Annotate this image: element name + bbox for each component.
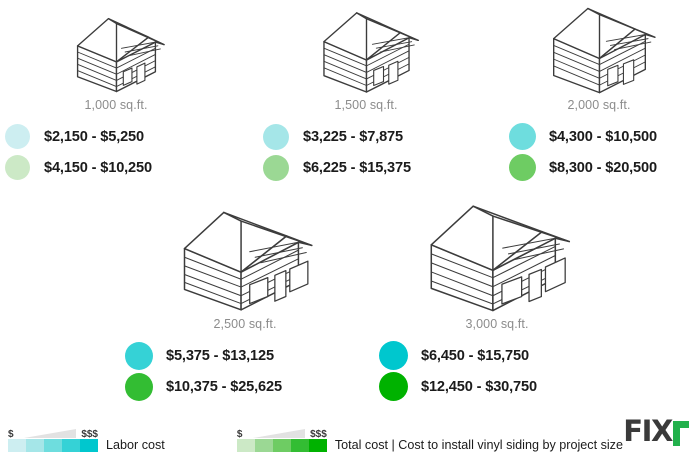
house-illustration-3000 [372,198,622,313]
labor-cost-swatch-3000 [379,341,408,370]
labor-cost-gradient-bar [8,439,98,452]
size-label-1500: 1,500 sq.ft. [250,98,482,112]
house-illustration-1000 [0,8,232,94]
labor-cost-swatch-2000 [509,123,536,150]
total-cost-value-3000: $12,450 - $30,750 [421,379,537,395]
labor-cost-value-2000: $4,300 - $10,500 [549,129,657,145]
size-label-1000: 1,000 sq.ft. [0,98,232,112]
total-cost-value-1500: $6,225 - $15,375 [303,160,411,176]
labor-gradient-step-5 [80,439,98,452]
total-cost-row-2500: $10,375 - $25,625 [120,371,370,402]
price-group-1000: $2,150 - $5,250 $4,150 - $10,250 [0,121,232,183]
total-gradient-step-1 [237,439,255,452]
price-group-2000: $4,300 - $10,500 $8,300 - $20,500 [498,121,700,183]
total-cost-row-3000: $12,450 - $30,750 [372,371,622,402]
labor-cost-value-1000: $2,150 - $5,250 [44,129,144,145]
price-group-1500: $3,225 - $7,875 $6,225 - $15,375 [250,121,482,183]
labor-cost-swatch-2500 [125,342,153,370]
legend-labor-cost: $ $$$ Labor cost [8,426,165,452]
labor-cost-value-3000: $6,450 - $15,750 [421,348,529,364]
house-illustration-1500 [250,5,482,94]
total-cost-row-1500: $6,225 - $15,375 [250,152,482,183]
total-cost-swatch-2500 [125,373,153,401]
labor-gradient-step-2 [26,439,44,452]
total-gradient-step-3 [273,439,291,452]
total-scale-low-marker: $ [237,430,243,440]
labor-cost-swatch-1500 [263,124,289,150]
total-cost-swatch-3000 [379,372,408,401]
total-cost-scale: $ $$$ [237,426,327,452]
total-scale-markers: $ $$$ [237,426,327,439]
price-group-3000: $6,450 - $15,750 $12,450 - $30,750 [372,340,622,402]
legend-total-cost: $ $$$ Total cost | Cost to install vinyl… [237,426,623,452]
total-cost-row-2000: $8,300 - $20,500 [498,152,700,183]
total-cost-value-2500: $10,375 - $25,625 [166,379,282,395]
labor-gradient-step-1 [8,439,26,452]
labor-cost-value-2500: $5,375 - $13,125 [166,348,274,364]
fixr-bracket-icon [673,421,689,446]
labor-cost-legend-label: Labor cost [106,438,165,452]
size-label-2500: 2,500 sq.ft. [120,317,370,331]
size-card-3000: 3,000 sq.ft. $6,450 - $15,750 $12,450 - … [372,198,622,402]
labor-cost-row-1000: $2,150 - $5,250 [0,121,232,152]
labor-cost-row-1500: $3,225 - $7,875 [250,121,482,152]
fixr-logo-wordmark: FIX [623,417,672,446]
size-label-2000: 2,000 sq.ft. [498,98,700,112]
total-gradient-step-5 [309,439,327,452]
total-cost-gradient-bar [237,439,327,452]
infographic-canvas: 1,000 sq.ft. $2,150 - $5,250 $4,150 - $1… [0,0,700,456]
house-icon [64,10,169,94]
size-card-2000: 2,000 sq.ft. $4,300 - $10,500 $8,300 - $… [498,2,700,183]
total-cost-swatch-1500 [263,155,289,181]
labor-cost-row-2000: $4,300 - $10,500 [498,121,700,152]
labor-gradient-step-4 [62,439,80,452]
size-card-1000: 1,000 sq.ft. $2,150 - $5,250 $4,150 - $1… [0,8,232,183]
labor-cost-row-2500: $5,375 - $13,125 [120,340,370,371]
house-icon [416,198,578,313]
labor-gradient-step-3 [44,439,62,452]
labor-scale-markers: $ $$$ [8,426,98,439]
total-scale-high-marker: $$$ [310,430,327,440]
size-label-3000: 3,000 sq.ft. [372,317,622,331]
labor-scale-high-marker: $$$ [81,430,98,440]
labor-scale-wedge-icon [24,429,76,438]
total-cost-value-2000: $8,300 - $20,500 [549,160,657,176]
price-group-2500: $5,375 - $13,125 $10,375 - $25,625 [120,340,370,402]
labor-cost-swatch-1000 [5,124,30,149]
labor-cost-scale: $ $$$ [8,426,98,452]
size-card-2500: 2,500 sq.ft. $5,375 - $13,125 $10,375 - … [120,203,370,402]
total-scale-wedge-icon [253,429,305,438]
labor-cost-row-3000: $6,450 - $15,750 [372,340,622,371]
total-gradient-step-2 [255,439,273,452]
total-cost-legend-label: Total cost | Cost to install vinyl sidin… [335,438,623,452]
labor-cost-value-1500: $3,225 - $7,875 [303,129,403,145]
size-card-1500: 1,500 sq.ft. $3,225 - $7,875 $6,225 - $1… [250,5,482,183]
legend: $ $$$ Labor cost [8,418,623,452]
total-cost-value-1000: $4,150 - $10,250 [44,160,152,176]
labor-scale-low-marker: $ [8,430,14,440]
fixr-logo-r-mark [673,421,688,445]
house-illustration-2000 [498,2,700,94]
house-icon [537,1,662,94]
fixr-logo: FIX [623,417,688,446]
house-icon [309,5,424,94]
total-cost-swatch-1000 [5,155,30,180]
house-icon [169,203,321,313]
total-cost-swatch-2000 [509,154,536,181]
house-illustration-2500 [120,203,370,313]
total-gradient-step-4 [291,439,309,452]
total-cost-row-1000: $4,150 - $10,250 [0,152,232,183]
